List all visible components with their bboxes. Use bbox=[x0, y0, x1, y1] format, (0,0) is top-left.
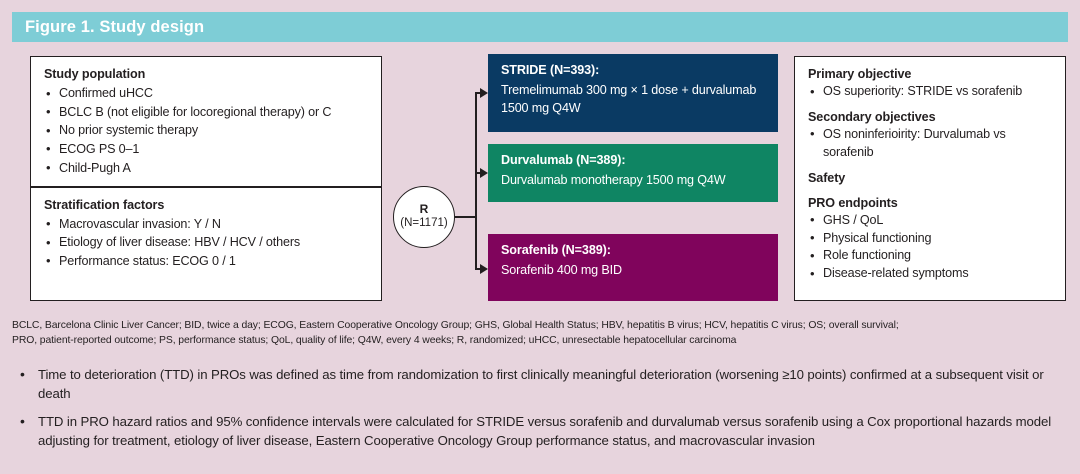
arrowhead-durva bbox=[480, 168, 488, 178]
stratification-section: Stratification factors Macrovascular inv… bbox=[31, 188, 381, 280]
primary-objective-list: OS superiority: STRIDE vs sorafenib bbox=[808, 83, 1054, 101]
footnote-line: PRO, patient-reported outcome; PS, perfo… bbox=[12, 333, 1072, 348]
randomization-node: R (N=1171) bbox=[393, 186, 455, 248]
primary-objective-heading: Primary objective bbox=[808, 67, 1054, 81]
stratification-list: Macrovascular invasion: Y / N Etiology o… bbox=[44, 215, 369, 271]
arrowhead-stride bbox=[480, 88, 488, 98]
list-item: Etiology of liver disease: HBV / HCV / o… bbox=[44, 233, 369, 252]
randomization-label: R bbox=[420, 203, 429, 217]
connector-stem bbox=[455, 216, 477, 218]
pro-endpoints-list: GHS / QoL Physical functioning Role func… bbox=[808, 212, 1054, 284]
list-item: Macrovascular invasion: Y / N bbox=[44, 215, 369, 234]
abbreviations-footnote: BCLC, Barcelona Clinic Liver Cancer; BID… bbox=[12, 318, 1072, 348]
list-item: GHS / QoL bbox=[808, 212, 1054, 230]
list-item: Disease-related symptoms bbox=[808, 265, 1054, 283]
list-item: Confirmed uHCC bbox=[44, 84, 369, 103]
spacer bbox=[808, 162, 1054, 171]
list-item: Role functioning bbox=[808, 247, 1054, 265]
spacer bbox=[808, 187, 1054, 196]
objectives-panel: Primary objective OS superiority: STRIDE… bbox=[794, 56, 1066, 301]
figure-header-banner: Figure 1. Study design bbox=[12, 12, 1068, 42]
footnote-line: BCLC, Barcelona Clinic Liver Cancer; BID… bbox=[12, 318, 1072, 333]
population-panel: Study population Confirmed uHCC BCLC B (… bbox=[30, 56, 382, 301]
list-item: BCLC B (not eligible for locoregional th… bbox=[44, 103, 369, 122]
treatment-arm-durvalumab: Durvalumab (N=389): Durvalumab monothera… bbox=[488, 144, 778, 202]
secondary-objectives-list: OS noninferioirity: Durvalumab vs sorafe… bbox=[808, 126, 1054, 162]
study-design-diagram: Study population Confirmed uHCC BCLC B (… bbox=[0, 44, 1080, 312]
arm-title: Sorafenib (N=389): bbox=[501, 243, 765, 257]
spacer bbox=[808, 101, 1054, 110]
secondary-objectives-heading: Secondary objectives bbox=[808, 110, 1054, 124]
arm-title: Durvalumab (N=389): bbox=[501, 153, 765, 167]
safety-heading: Safety bbox=[808, 171, 1054, 185]
study-population-section: Study population Confirmed uHCC BCLC B (… bbox=[31, 57, 381, 186]
pro-endpoints-heading: PRO endpoints bbox=[808, 196, 1054, 210]
randomization-count: (N=1171) bbox=[400, 217, 447, 231]
treatment-arm-stride: STRIDE (N=393): Tremelimumab 300 mg × 1 … bbox=[488, 54, 778, 132]
study-population-list: Confirmed uHCC BCLC B (not eligible for … bbox=[44, 84, 369, 177]
study-population-heading: Study population bbox=[44, 67, 369, 81]
list-item: Performance status: ECOG 0 / 1 bbox=[44, 252, 369, 271]
stratification-heading: Stratification factors bbox=[44, 198, 369, 212]
list-item: TTD in PRO hazard ratios and 95% confide… bbox=[12, 413, 1070, 450]
connector-trunk bbox=[475, 92, 477, 270]
arm-title: STRIDE (N=393): bbox=[501, 63, 765, 77]
methods-notes-list: Time to deterioration (TTD) in PROs was … bbox=[12, 366, 1070, 461]
list-item: No prior systemic therapy bbox=[44, 121, 369, 140]
treatment-arm-sorafenib: Sorafenib (N=389): Sorafenib 400 mg BID bbox=[488, 234, 778, 301]
arm-regimen: Tremelimumab 300 mg × 1 dose + durvaluma… bbox=[501, 82, 765, 118]
arm-regimen: Durvalumab monotherapy 1500 mg Q4W bbox=[501, 172, 765, 190]
page-title: Figure 1. Study design bbox=[25, 18, 204, 37]
list-item: Time to deterioration (TTD) in PROs was … bbox=[12, 366, 1070, 403]
list-item: OS superiority: STRIDE vs sorafenib bbox=[808, 83, 1054, 101]
list-item: Child-Pugh A bbox=[44, 159, 369, 178]
list-item: OS noninferioirity: Durvalumab vs sorafe… bbox=[808, 126, 1054, 162]
list-item: Physical functioning bbox=[808, 230, 1054, 248]
arm-regimen: Sorafenib 400 mg BID bbox=[501, 262, 765, 280]
list-item: ECOG PS 0–1 bbox=[44, 140, 369, 159]
arrowhead-sora bbox=[480, 264, 488, 274]
